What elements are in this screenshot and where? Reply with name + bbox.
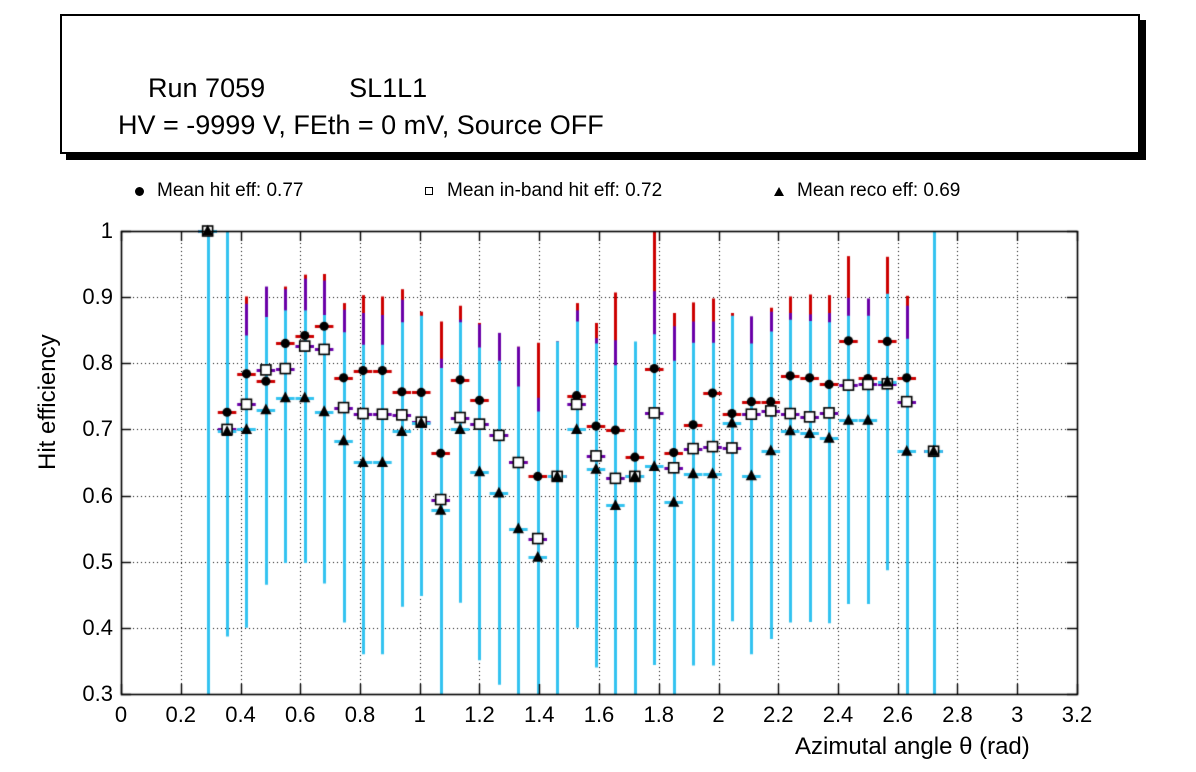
y-tick-label: 0.7: [59, 416, 113, 442]
legend-label-inband-eff: Mean in-band hit eff: 0.72: [447, 180, 662, 202]
y-tick-label: 0.8: [59, 350, 113, 376]
x-axis-title: Azimutal angle θ (rad): [795, 733, 1030, 761]
run-conditions-text: HV = -9999 V, FEth = 0 mV, Source OFF: [118, 110, 604, 141]
y-axis-title: Hit efficiency: [34, 334, 62, 470]
x-tick-label: 1.2: [464, 702, 495, 728]
y-tick-label: 0.9: [59, 284, 113, 310]
x-tick-label: 3.2: [1062, 702, 1093, 728]
y-tick-label: 0.4: [59, 615, 113, 641]
filled-circle-icon: [121, 187, 157, 196]
x-tick-label: 2.8: [942, 702, 973, 728]
x-tick-label: 3: [1011, 702, 1023, 728]
filled-triangle-icon: [761, 187, 797, 196]
x-tick-label: 0.6: [285, 702, 316, 728]
x-tick-label: 1.8: [643, 702, 674, 728]
x-tick-label: 1.6: [584, 702, 615, 728]
legend-label-reco-eff: Mean reco eff: 0.69: [797, 180, 960, 202]
legend: Mean hit eff: 0.77 Mean in-band hit eff:…: [121, 168, 1021, 214]
x-tick-label: 0: [115, 702, 127, 728]
y-tick-label: 1: [59, 218, 113, 244]
run-number-text: Run 7059: [148, 73, 265, 104]
x-tick-label: 2.2: [763, 702, 794, 728]
x-tick-label: 0.8: [345, 702, 376, 728]
x-tick-label: 0.2: [165, 702, 196, 728]
x-tick-label: 2.6: [882, 702, 913, 728]
y-tick-label: 0.6: [59, 483, 113, 509]
x-tick-label: 2: [712, 702, 724, 728]
x-tick-label: 2.4: [823, 702, 854, 728]
legend-entry-reco-eff: Mean reco eff: 0.69: [761, 168, 960, 214]
superlayer-text: SL1L1: [349, 73, 427, 104]
legend-label-hit-eff: Mean hit eff: 0.77: [157, 180, 303, 202]
x-tick-label: 0.4: [225, 702, 256, 728]
title-stats-box: Run 7059SL1L1 HV = -9999 V, FEth = 0 mV,…: [60, 14, 1140, 154]
x-tick-label: 1.4: [524, 702, 555, 728]
legend-entry-hit-eff: Mean hit eff: 0.77: [121, 168, 303, 214]
open-square-icon: [411, 187, 447, 195]
y-tick-label: 0.3: [59, 681, 113, 707]
y-tick-label: 0.5: [59, 549, 113, 575]
x-tick-label: 1: [414, 702, 426, 728]
legend-entry-inband-eff: Mean in-band hit eff: 0.72: [411, 168, 662, 214]
